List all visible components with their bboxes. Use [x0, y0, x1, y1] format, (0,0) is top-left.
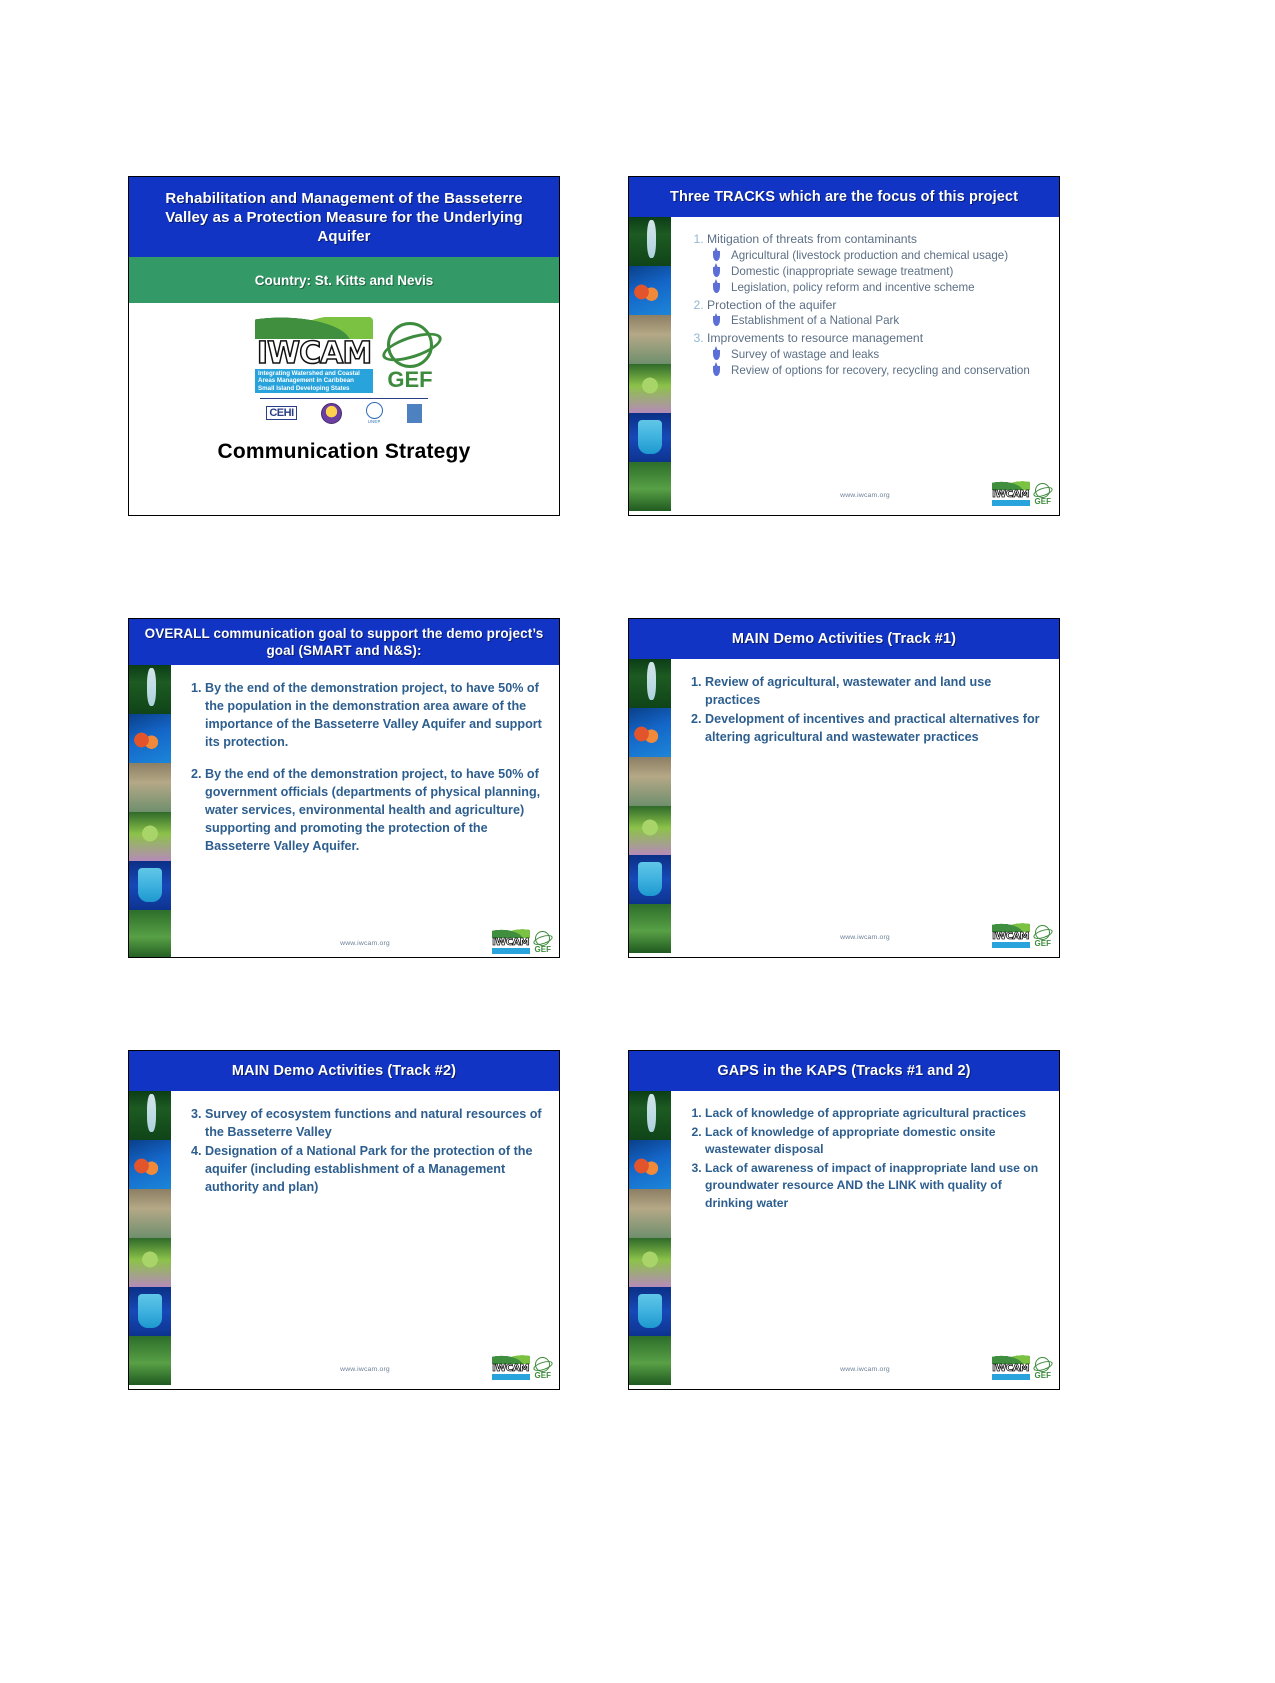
gef-globe-icon	[1035, 483, 1050, 498]
sub-list-item-text: Agricultural (livestock production and c…	[731, 249, 1008, 262]
sub-list-item: Survey of wastage and leaks	[711, 347, 1047, 363]
iwcam-wordmark: IWCAM	[992, 1364, 1030, 1374]
slide-header: GAPS in the KAPS (Tracks #1 and 2)	[629, 1051, 1059, 1091]
sub-list-item: Domestic (inappropriate sewage treatment…	[711, 264, 1047, 280]
list-item-text: Mitigation of threats from contaminants	[707, 231, 1047, 248]
list-item-text: Protection of the aquifer	[707, 297, 1047, 314]
slide-footer: www.iwcam.org IWCAM GEF	[171, 1353, 559, 1383]
iwcam-wordmark: IWCAM	[492, 938, 530, 948]
goal-list: By the end of the demonstration project,…	[181, 679, 547, 855]
country-band: Country: St. Kitts and Nevis	[129, 257, 559, 303]
slide-body: Lack of knowledge of appropriate agricul…	[629, 1091, 1059, 1385]
slide-main-demo-track-2: MAIN Demo Activities (Track #2) Survey o…	[128, 1050, 560, 1390]
sub-list-item-text: Legislation, policy reform and incentive…	[731, 281, 975, 294]
list-item: Development of incentives and practical …	[705, 710, 1047, 746]
flower-photo	[629, 806, 671, 855]
slide-content: Mitigation of threats from contaminants …	[671, 217, 1059, 511]
list-item-text: Lack of knowledge of appropriate agricul…	[705, 1105, 1047, 1123]
iwcam-tagline-bar	[492, 948, 530, 954]
slide-footer: www.iwcam.org IWCAM GEF	[671, 921, 1059, 951]
coral-photo	[129, 714, 171, 763]
flower-photo	[129, 1238, 171, 1287]
gef-wordmark: GEF	[535, 1372, 551, 1380]
list-item: Lack of knowledge of appropriate agricul…	[705, 1105, 1047, 1123]
list-item: Survey of ecosystem functions and natura…	[205, 1105, 547, 1141]
list-item: Protection of the aquifer Establishment …	[707, 297, 1047, 330]
activities-list: Survey of ecosystem functions and natura…	[181, 1105, 547, 1196]
waterfall-photo	[629, 659, 671, 708]
footer-url: www.iwcam.org	[340, 1366, 390, 1373]
gef-globe-icon	[535, 1357, 550, 1372]
sub-list: Establishment of a National Park	[707, 313, 1047, 329]
footer-logos: IWCAM GEF	[492, 929, 551, 954]
list-item-text: Designation of a National Park for the p…	[205, 1142, 547, 1196]
list-item: Review of agricultural, wastewater and l…	[705, 673, 1047, 709]
footer-gef-logo: GEF	[535, 931, 551, 954]
slide-header: OVERALL communication goal to support th…	[129, 619, 559, 665]
flower-photo	[629, 1238, 671, 1287]
list-item: Mitigation of threats from contaminants …	[707, 231, 1047, 296]
leaf-photo	[629, 904, 671, 953]
gef-globe-icon	[1035, 925, 1050, 940]
iwcam-wordmark: IWCAM	[492, 1364, 530, 1374]
footer-gef-logo: GEF	[1035, 1357, 1051, 1380]
water-glass-photo	[629, 855, 671, 904]
pond-photo	[629, 315, 671, 364]
footer-iwcam-logo: IWCAM	[992, 481, 1030, 506]
list-item: Lack of knowledge of appropriate domesti…	[705, 1124, 1047, 1159]
waterfall-photo	[629, 1091, 671, 1140]
footer-gef-logo: GEF	[1035, 925, 1051, 948]
tracks-list: Mitigation of threats from contaminants …	[681, 231, 1047, 379]
slide-body: By the end of the demonstration project,…	[129, 665, 559, 958]
sub-list-item: Review of options for recovery, recyclin…	[711, 363, 1047, 379]
gaps-list: Lack of knowledge of appropriate agricul…	[681, 1105, 1047, 1212]
sub-list-item-text: Establishment of a National Park	[731, 314, 899, 327]
slide-body: Mitigation of threats from contaminants …	[629, 217, 1059, 511]
iwcam-logo: IWCAM Integrating Watershed and Coastal …	[255, 317, 373, 393]
water-drop-icon	[713, 350, 720, 360]
partner-logo-row: CEHI UNEP	[266, 402, 421, 424]
sub-list-item: Agricultural (livestock production and c…	[711, 248, 1047, 264]
pond-photo	[129, 763, 171, 812]
iwcam-tagline-bar	[992, 942, 1030, 948]
gef-wordmark: GEF	[1035, 1372, 1051, 1380]
coral-photo	[129, 1140, 171, 1189]
sub-list: Agricultural (livestock production and c…	[707, 248, 1047, 296]
waterfall-photo	[129, 665, 171, 714]
activities-list: Review of agricultural, wastewater and l…	[681, 673, 1047, 746]
list-item: By the end of the demonstration project,…	[205, 765, 547, 855]
gef-wordmark: GEF	[387, 369, 432, 391]
list-item: Improvements to resource management Surv…	[707, 330, 1047, 379]
photo-filmstrip	[629, 217, 671, 511]
slide-footer: www.iwcam.org IWCAM GEF	[171, 927, 559, 957]
handout-page: Rehabilitation and Management of the Bas…	[0, 0, 1275, 1683]
sub-list-item-text: Survey of wastage and leaks	[731, 348, 879, 361]
communication-strategy-subtitle: Communication Strategy	[218, 440, 471, 464]
list-item-text: By the end of the demonstration project,…	[205, 679, 547, 751]
water-drop-icon	[713, 251, 720, 261]
coral-photo	[629, 1140, 671, 1189]
footer-logos: IWCAM GEF	[992, 923, 1051, 948]
coral-photo	[629, 708, 671, 757]
footer-url: www.iwcam.org	[840, 492, 890, 499]
pond-photo	[629, 757, 671, 806]
slide-content: Survey of ecosystem functions and natura…	[171, 1091, 559, 1385]
sub-list: Survey of wastage and leaks Review of op…	[707, 347, 1047, 379]
oas-logo	[321, 402, 342, 424]
gef-wordmark: GEF	[535, 946, 551, 954]
water-drop-icon	[713, 267, 720, 277]
cehi-logo: CEHI	[266, 402, 296, 424]
slide-header: MAIN Demo Activities (Track #2)	[129, 1051, 559, 1091]
slide-footer: www.iwcam.org IWCAM GEF	[671, 479, 1059, 509]
leaf-photo	[629, 462, 671, 511]
footer-url: www.iwcam.org	[840, 934, 890, 941]
pond-photo	[629, 1189, 671, 1238]
slide-gaps-in-the-kaps: GAPS in the KAPS (Tracks #1 and 2) Lack …	[628, 1050, 1060, 1390]
slide-body: Review of agricultural, wastewater and l…	[629, 659, 1059, 953]
partner-divider	[260, 398, 428, 399]
leaf-photo	[129, 1336, 171, 1385]
sub-list-item-text: Domestic (inappropriate sewage treatment…	[731, 265, 953, 278]
photo-filmstrip	[629, 1091, 671, 1385]
unep-globe-icon	[366, 402, 383, 419]
leaf-photo	[129, 910, 171, 958]
slide-content: Lack of knowledge of appropriate agricul…	[671, 1091, 1059, 1385]
water-glass-photo	[129, 861, 171, 910]
footer-gef-logo: GEF	[535, 1357, 551, 1380]
list-item: Designation of a National Park for the p…	[205, 1142, 547, 1196]
slide-content: By the end of the demonstration project,…	[171, 665, 559, 958]
slide-content: Review of agricultural, wastewater and l…	[671, 659, 1059, 953]
water-drop-icon	[713, 316, 720, 326]
iwcam-tagline-bar	[992, 500, 1030, 506]
flower-photo	[129, 812, 171, 861]
gef-logo: GEF	[387, 322, 433, 391]
water-glass-photo	[629, 1287, 671, 1336]
footer-iwcam-logo: IWCAM	[492, 929, 530, 954]
footer-iwcam-logo: IWCAM	[992, 1355, 1030, 1380]
iwcam-wordmark: IWCAM	[255, 339, 373, 369]
list-item-text: Development of incentives and practical …	[705, 710, 1047, 746]
un-emblem-icon	[407, 404, 422, 423]
list-item-text: Lack of awareness of impact of inappropr…	[705, 1160, 1047, 1213]
flower-photo	[629, 364, 671, 413]
iwcam-wordmark: IWCAM	[992, 490, 1030, 500]
sub-list-item-text: Review of options for recovery, recyclin…	[731, 364, 1030, 377]
waterfall-photo	[629, 217, 671, 266]
water-drop-icon	[713, 283, 720, 293]
unep-wordmark: UNEP	[368, 419, 381, 424]
cehi-wordmark: CEHI	[266, 406, 296, 420]
unep-logo: UNEP	[366, 402, 383, 424]
list-item: By the end of the demonstration project,…	[205, 679, 547, 751]
list-item-text: Survey of ecosystem functions and natura…	[205, 1105, 547, 1141]
slide-overall-goal: OVERALL communication goal to support th…	[128, 618, 560, 958]
footer-url: www.iwcam.org	[840, 1366, 890, 1373]
gef-wordmark: GEF	[1035, 498, 1051, 506]
iwcam-wordmark: IWCAM	[992, 932, 1030, 942]
leaf-photo	[629, 1336, 671, 1385]
footer-logos: IWCAM GEF	[992, 481, 1051, 506]
title-slide-body: IWCAM Integrating Watershed and Coastal …	[129, 303, 559, 516]
photo-filmstrip	[129, 665, 171, 958]
gef-globe-icon	[387, 322, 433, 368]
iwcam-tagline: Integrating Watershed and Coastal Areas …	[255, 369, 373, 393]
slide-title: Rehabilitation and Management of the Bas…	[128, 176, 560, 516]
water-drop-icon	[713, 366, 720, 376]
footer-gef-logo: GEF	[1035, 483, 1051, 506]
water-glass-photo	[629, 413, 671, 462]
footer-logos: IWCAM GEF	[992, 1355, 1051, 1380]
coral-photo	[629, 266, 671, 315]
waterfall-photo	[129, 1091, 171, 1140]
un-logo	[407, 402, 422, 424]
slide-main-demo-track-1: MAIN Demo Activities (Track #1) Review o…	[628, 618, 1060, 958]
list-item: Lack of awareness of impact of inappropr…	[705, 1160, 1047, 1213]
iwcam-tagline-bar	[992, 1374, 1030, 1380]
photo-filmstrip	[129, 1091, 171, 1385]
gef-globe-icon	[535, 931, 550, 946]
gef-globe-icon	[1035, 1357, 1050, 1372]
footer-url: www.iwcam.org	[340, 940, 390, 947]
list-item-text: Lack of knowledge of appropriate domesti…	[705, 1124, 1047, 1159]
pond-photo	[129, 1189, 171, 1238]
sub-list-item: Legislation, policy reform and incentive…	[711, 280, 1047, 296]
slide-body: Survey of ecosystem functions and natura…	[129, 1091, 559, 1385]
iwcam-tagline-bar	[492, 1374, 530, 1380]
footer-logos: IWCAM GEF	[492, 1355, 551, 1380]
sub-list-item: Establishment of a National Park	[711, 313, 1047, 329]
water-glass-photo	[129, 1287, 171, 1336]
list-item-text: Improvements to resource management	[707, 330, 1047, 347]
slide-footer: www.iwcam.org IWCAM GEF	[671, 1353, 1059, 1383]
slide-title-header: Rehabilitation and Management of the Bas…	[129, 177, 559, 257]
oas-seal-icon	[321, 403, 342, 424]
photo-filmstrip	[629, 659, 671, 953]
footer-iwcam-logo: IWCAM	[492, 1355, 530, 1380]
gef-wordmark: GEF	[1035, 940, 1051, 948]
slide-three-tracks: Three TRACKS which are the focus of this…	[628, 176, 1060, 516]
list-item-text: By the end of the demonstration project,…	[205, 765, 547, 855]
logo-row: IWCAM Integrating Watershed and Coastal …	[255, 317, 433, 393]
list-item-text: Review of agricultural, wastewater and l…	[705, 673, 1047, 709]
slide-header: MAIN Demo Activities (Track #1)	[629, 619, 1059, 659]
slide-header: Three TRACKS which are the focus of this…	[629, 177, 1059, 217]
footer-iwcam-logo: IWCAM	[992, 923, 1030, 948]
